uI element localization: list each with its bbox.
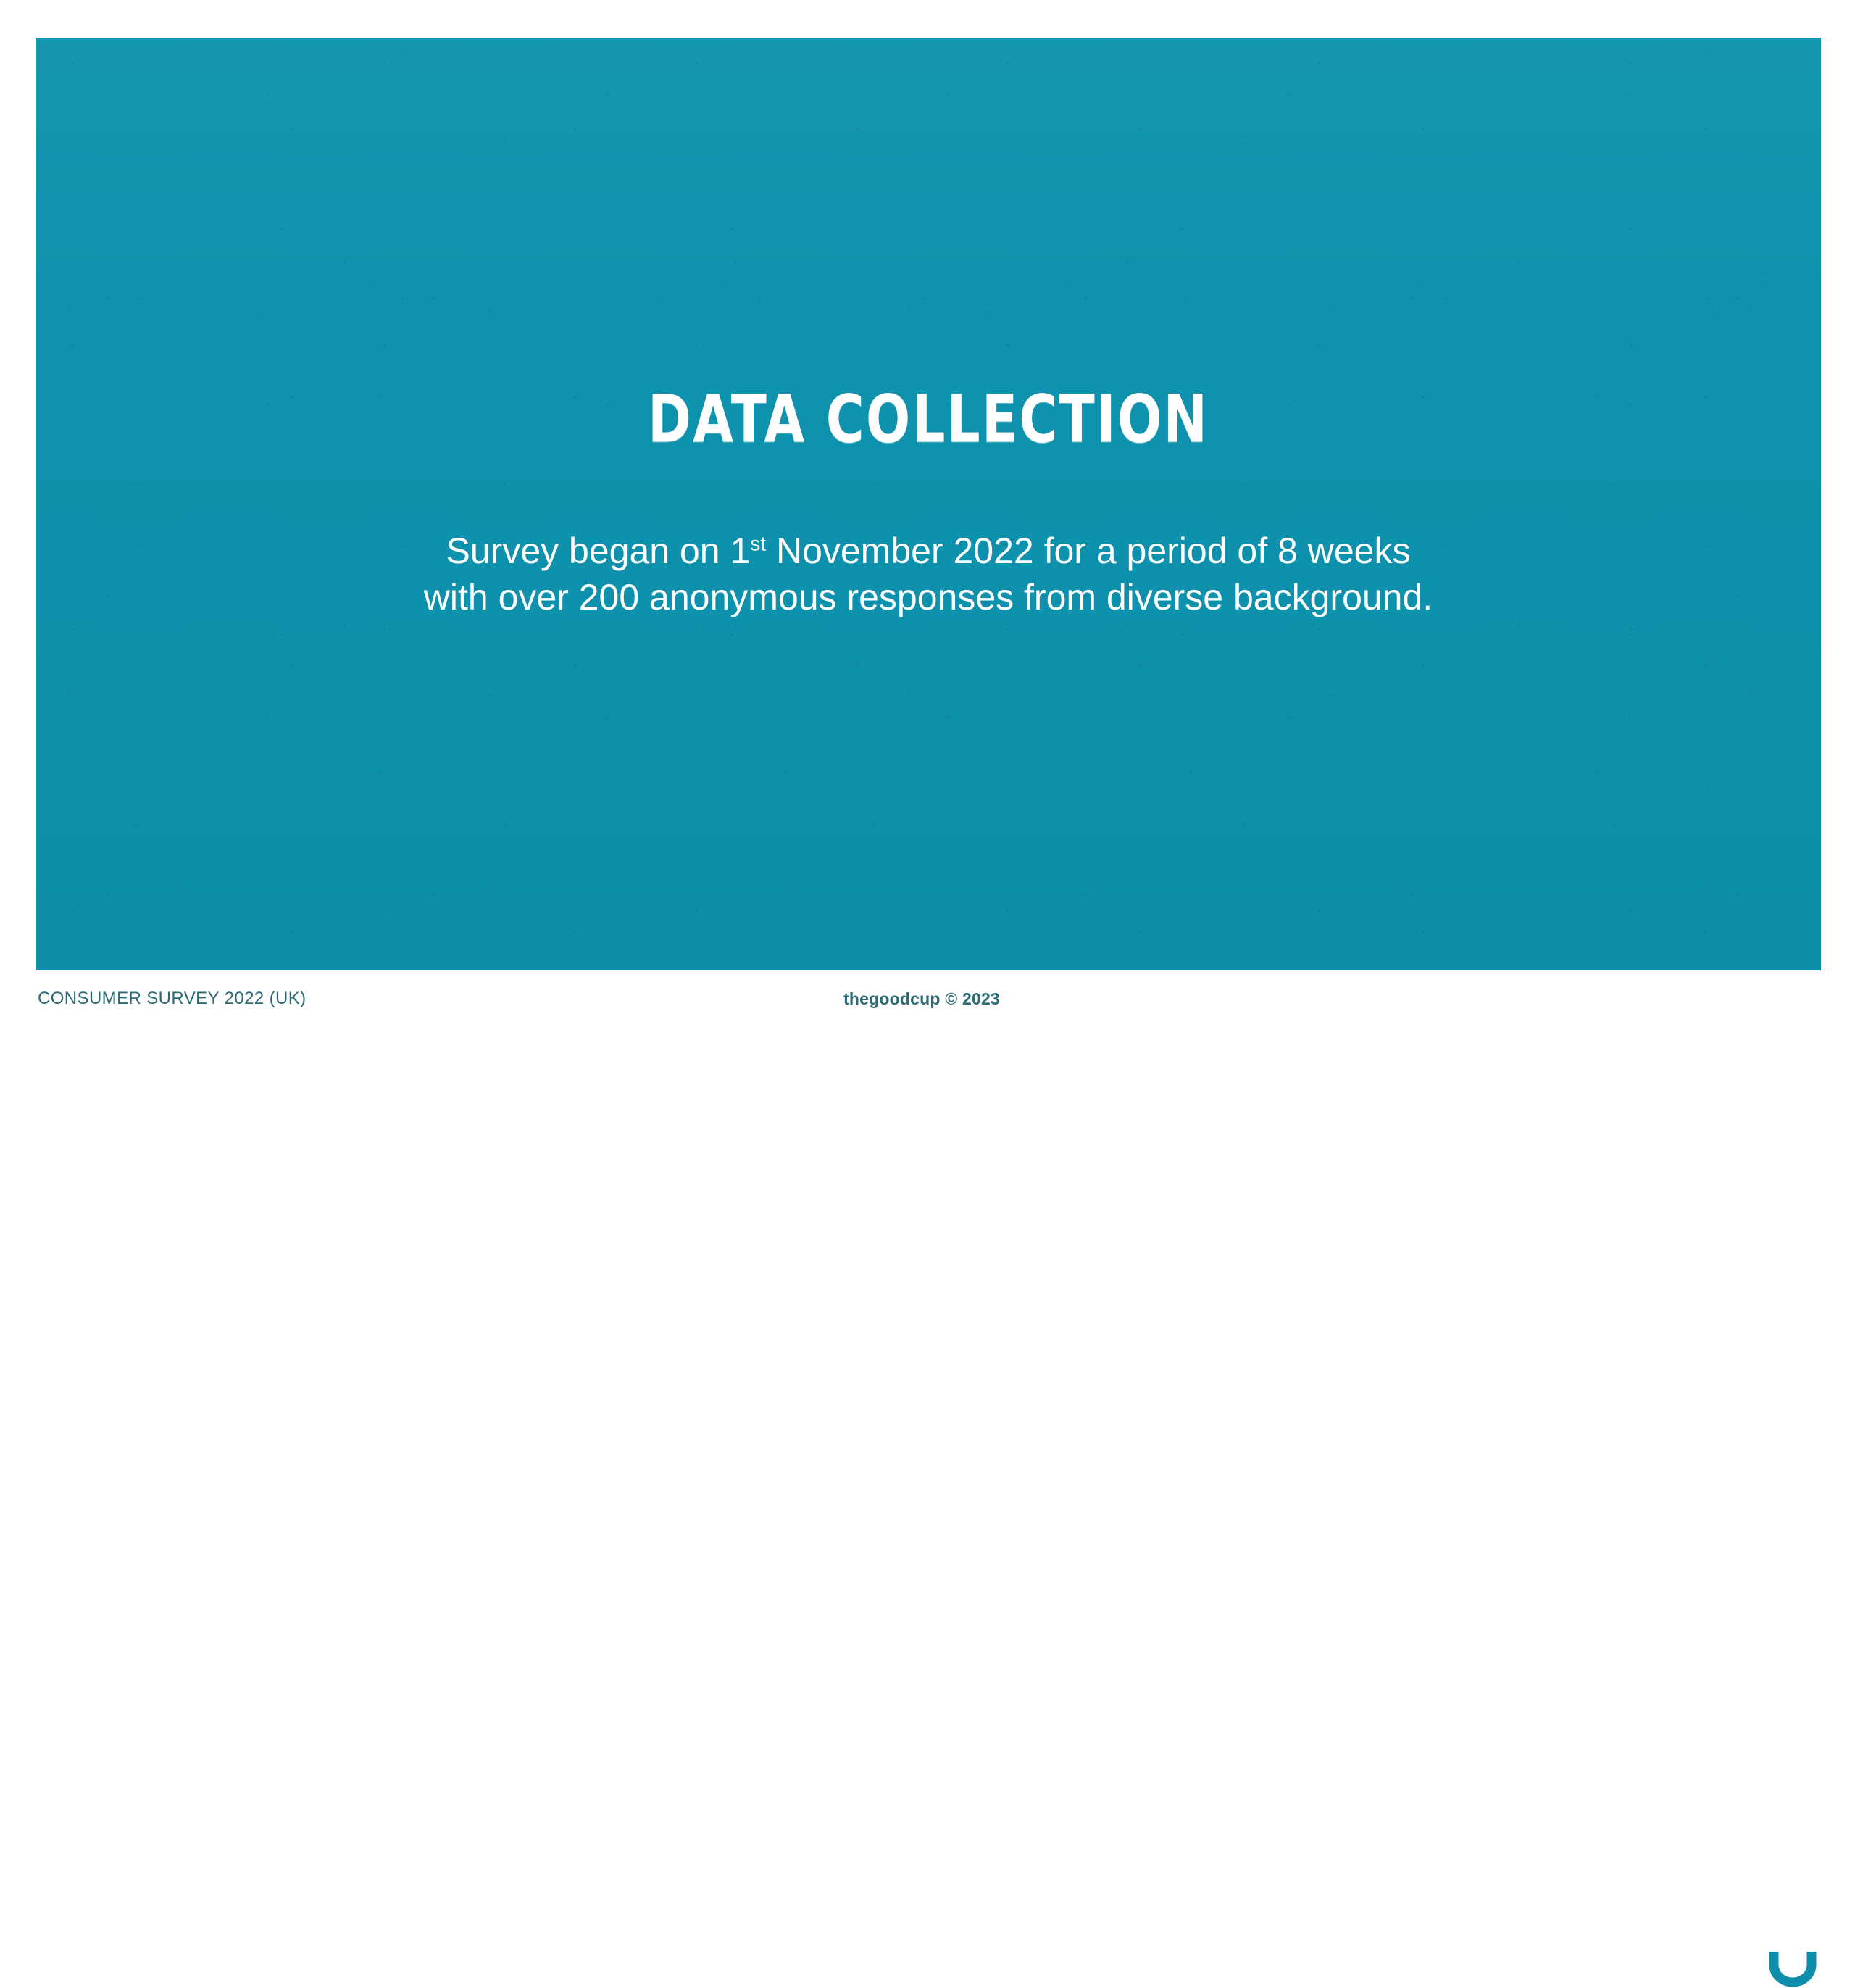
slide-content-panel: DATA COLLECTION Survey began on 1st Nove… — [36, 38, 1821, 970]
footer-center-wrap: thegoodcup © 2023 — [0, 989, 1855, 1009]
page-title: DATA COLLECTION — [648, 386, 1209, 452]
slide-text-block: DATA COLLECTION Survey began on 1st Nove… — [36, 38, 1821, 970]
slide-canvas: DATA COLLECTION Survey began on 1st Nove… — [0, 0, 1855, 1044]
body-line-2: with over 200 anonymous responses from d… — [424, 577, 1433, 617]
cup-logo-icon — [1769, 1950, 1817, 1988]
ordinal-suffix: st — [750, 532, 766, 554]
slide-body-text: Survey began on 1st November 2022 for a … — [424, 528, 1433, 620]
footer-copyright-label: thegoodcup © 2023 — [843, 989, 1000, 1008]
slide-footer: CONSUMER SURVEY 2022 (UK) thegoodcup © 2… — [0, 970, 1855, 1044]
body-line-1-post: November 2022 for a period of 8 weeks — [766, 531, 1410, 571]
body-line-1-pre: Survey began on 1 — [446, 531, 751, 571]
